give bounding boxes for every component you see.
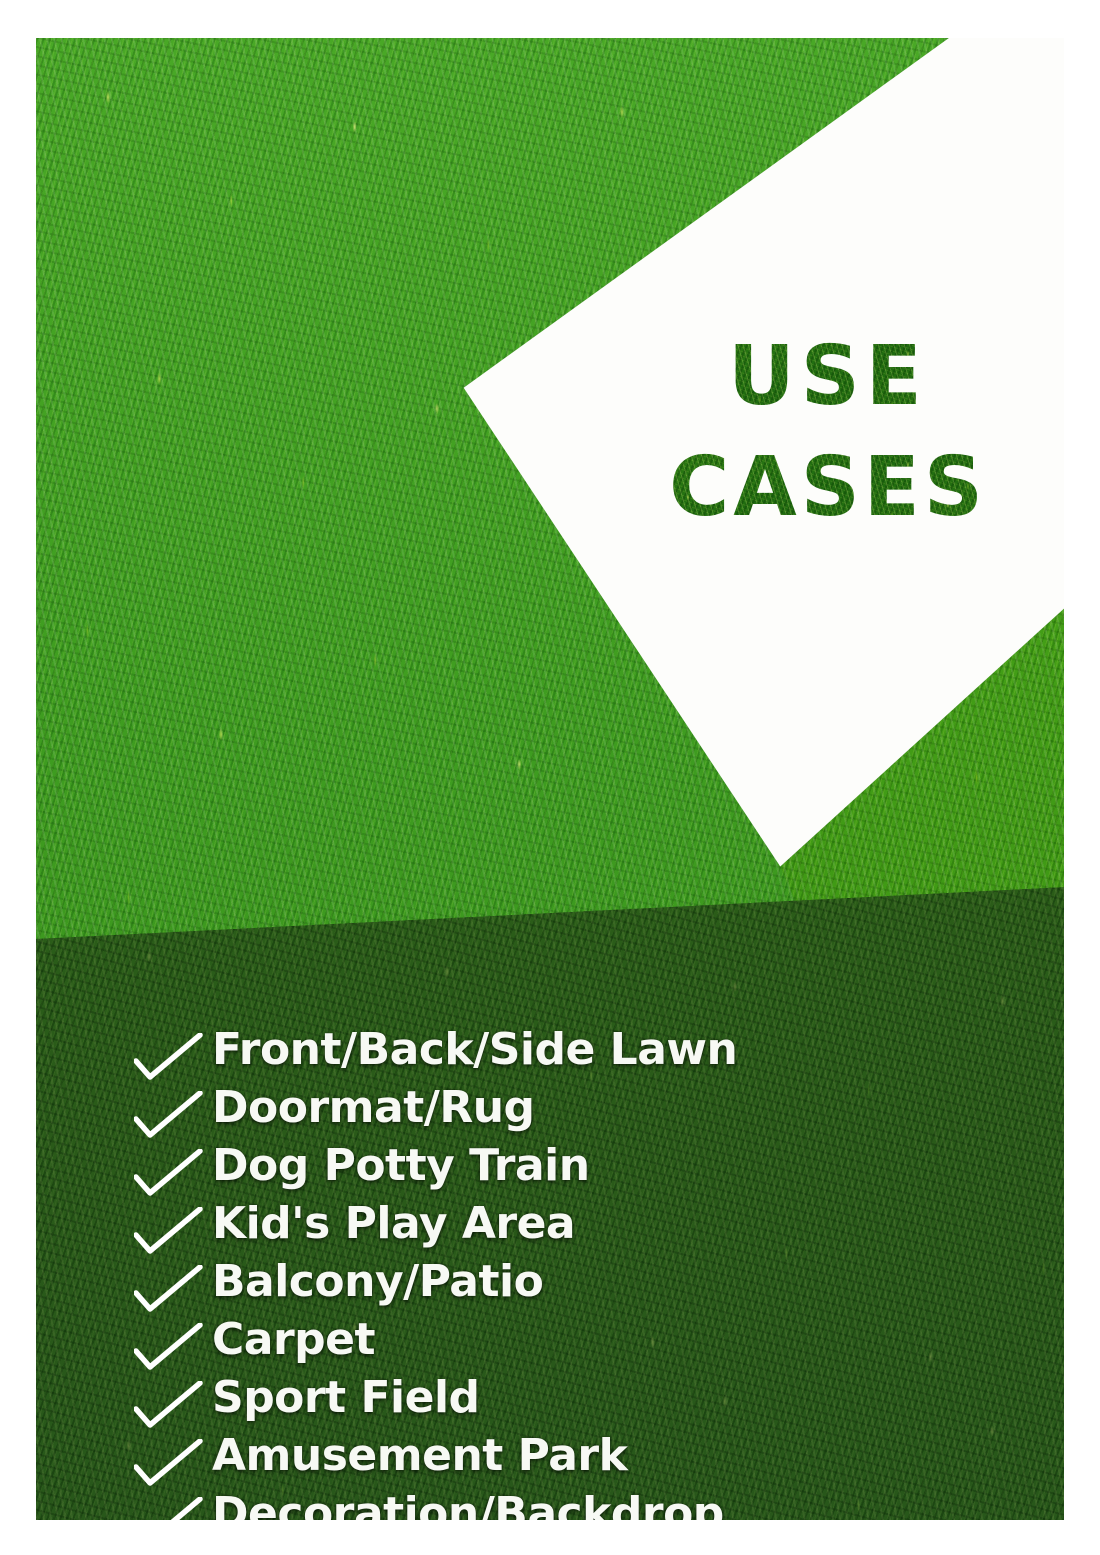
check-icon <box>134 1091 204 1143</box>
check-icon <box>134 1497 204 1520</box>
page-title: USE CASES <box>628 338 1028 527</box>
check-icon <box>134 1265 204 1317</box>
use-case-label: Kid's Play Area <box>212 1202 575 1246</box>
title-line-use: USE <box>628 338 1028 417</box>
use-case-label: Decoration/Backdrop <box>212 1492 724 1520</box>
use-case-item: Amusement Park <box>128 1427 737 1485</box>
use-case-label: Doormat/Rug <box>212 1086 535 1130</box>
use-case-item: Doormat/Rug <box>128 1079 737 1137</box>
use-case-item: Balcony/Patio <box>128 1253 737 1311</box>
use-cases-poster: USE CASES Front/Back/Side LawnDoormat/Ru… <box>0 0 1100 1555</box>
use-case-item: Front/Back/Side Lawn <box>128 1021 737 1079</box>
check-icon <box>134 1439 204 1491</box>
check-icon <box>134 1381 204 1433</box>
use-case-item: Sport Field <box>128 1369 737 1427</box>
use-case-label: Dog Potty Train <box>212 1144 590 1188</box>
use-case-item: Dog Potty Train <box>128 1137 737 1195</box>
poster-artwork-plate: USE CASES Front/Back/Side LawnDoormat/Ru… <box>36 38 1064 1520</box>
check-icon <box>134 1149 204 1201</box>
use-case-label: Balcony/Patio <box>212 1260 543 1304</box>
use-case-label: Amusement Park <box>212 1434 627 1478</box>
use-case-label: Front/Back/Side Lawn <box>212 1028 737 1072</box>
use-case-list: Front/Back/Side LawnDoormat/RugDog Potty… <box>128 1021 737 1520</box>
use-case-label: Sport Field <box>212 1376 480 1420</box>
use-case-item: Carpet <box>128 1311 737 1369</box>
check-icon <box>134 1207 204 1259</box>
check-icon <box>134 1033 204 1085</box>
use-case-item: Decoration/Backdrop <box>128 1485 737 1520</box>
check-icon <box>134 1323 204 1375</box>
title-line-cases: CASES <box>628 449 1028 528</box>
use-case-item: Kid's Play Area <box>128 1195 737 1253</box>
use-case-label: Carpet <box>212 1318 375 1362</box>
